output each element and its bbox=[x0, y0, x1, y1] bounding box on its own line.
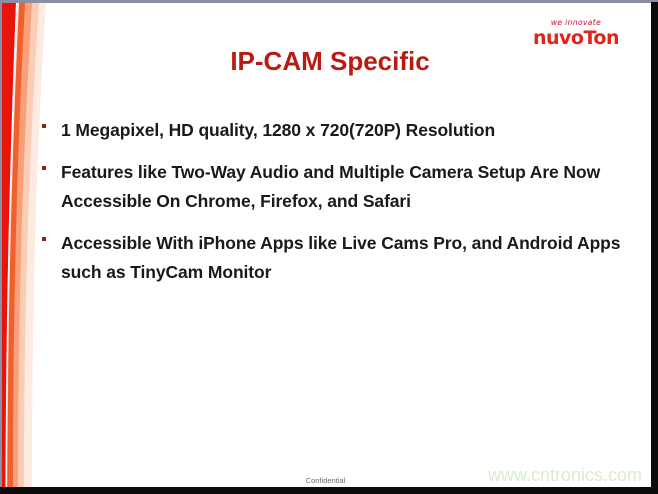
list-item: Features like Two-Way Audio and Multiple… bbox=[40, 158, 630, 216]
logo-tagline: we innovate bbox=[516, 18, 636, 27]
list-item: 1 Megapixel, HD quality, 1280 x 720(720P… bbox=[40, 116, 630, 145]
page-title: IP-CAM Specific bbox=[60, 46, 600, 77]
slide-border-top bbox=[0, 0, 658, 3]
list-item-text: 1 Megapixel, HD quality, 1280 x 720(720P… bbox=[61, 116, 630, 145]
slide-border-left bbox=[0, 0, 2, 494]
list-item-text: Accessible With iPhone Apps like Live Ca… bbox=[61, 229, 630, 287]
square-bullet-icon bbox=[40, 229, 61, 241]
bullet-list: 1 Megapixel, HD quality, 1280 x 720(720P… bbox=[40, 116, 630, 300]
nuvoton-logo: we innovate nuvoTon bbox=[516, 18, 636, 49]
site-watermark: www.cntronics.com bbox=[488, 465, 642, 486]
square-bullet-icon bbox=[40, 116, 61, 128]
slide-canvas: we innovate nuvoTon IP-CAM Specific 1 Me… bbox=[0, 0, 658, 494]
square-bullet-icon bbox=[40, 158, 61, 170]
slide-border-bottom bbox=[0, 487, 651, 494]
list-item: Accessible With iPhone Apps like Live Ca… bbox=[40, 229, 630, 287]
list-item-text: Features like Two-Way Audio and Multiple… bbox=[61, 158, 630, 216]
slide-border-right bbox=[651, 2, 658, 494]
